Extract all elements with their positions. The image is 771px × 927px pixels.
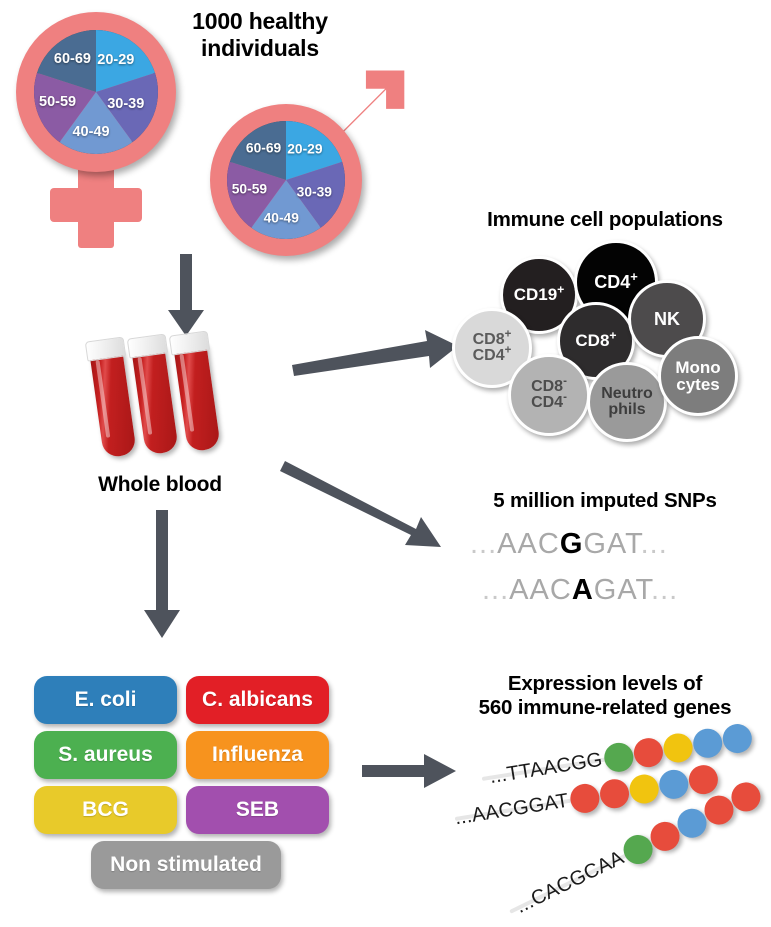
pie-label-60-69: 60-69 [246, 141, 281, 156]
stimulus-label: Non stimulated [110, 853, 262, 877]
snp-right-bases: GAT [583, 528, 640, 560]
expression-bead [568, 782, 601, 815]
cohort-title-line1: 1000 healthy [160, 8, 360, 35]
pie-label-20-29: 20-29 [97, 52, 134, 68]
pie-label-50-59: 50-59 [39, 94, 76, 110]
snp-variant-base: G [560, 528, 584, 560]
immune-cell-cd8-cd4-neg: CD8-CD4- [508, 354, 590, 436]
snp-left-bases: AAC [497, 528, 560, 560]
expression-title-line2: 560 immune-related genes [440, 696, 770, 720]
arrow-down-blood-to-stimuli [142, 510, 182, 640]
pie-label-40-49: 40-49 [264, 210, 299, 225]
expression-bead [687, 763, 720, 796]
age-pie-chart-male: 20-29 30-39 40-49 50-59 60-69 [227, 121, 345, 239]
stimulus-c-albicans[interactable]: C. albicans [186, 676, 329, 724]
snps-title: 5 million imputed SNPs [440, 489, 770, 513]
arrow-blood-to-immune-cells [290, 325, 460, 375]
stimulus-seb[interactable]: SEB [186, 786, 329, 834]
snp-suffix: ... [641, 528, 668, 560]
stimulus-s-aureus[interactable]: S. aureus [34, 731, 177, 779]
immune-cell-monocytes: Monocytes [658, 336, 738, 416]
pie-label-20-29: 20-29 [287, 142, 322, 157]
immune-cell-neutrophils: Neutrophils [587, 362, 667, 442]
stimuli-panel: E. coliC. albicansS. aureusInfluenzaBCGS… [34, 676, 334, 896]
immune-cell-label: CD8-CD4- [531, 379, 567, 412]
pie-label-30-39: 30-39 [107, 96, 144, 112]
page-title: 1000 healthy individuals [160, 8, 360, 62]
stimulus-label: S. aureus [58, 743, 153, 767]
snp-right-bases: GAT [594, 574, 651, 606]
expression-title-line1: Expression levels of [440, 672, 770, 696]
male-gender-symbol: 20-29 30-39 40-49 50-59 60-69 [198, 60, 418, 260]
strand-sequence-label: ...CACGCAA [512, 847, 628, 919]
stimulus-label: E. coli [75, 688, 137, 712]
female-symbol-cross [50, 188, 142, 222]
expression-bead [661, 731, 694, 764]
figure-canvas: 1000 healthy individuals 20-29 30-39 40-… [0, 0, 771, 922]
arrow-down-cohort-to-blood [166, 254, 206, 338]
snp-sequence-row: ...AACGGAT... [470, 528, 668, 561]
expression-bead [691, 727, 724, 760]
snp-prefix: ... [482, 574, 509, 606]
stimulus-non-stimulated[interactable]: Non stimulated [91, 841, 281, 889]
snp-sequence-row: ...AACAGAT... [482, 574, 678, 607]
female-gender-symbol: 20-29 30-39 40-49 50-59 60-69 [8, 8, 190, 253]
stimulus-label: Influenza [212, 743, 303, 767]
snp-prefix: ... [470, 528, 497, 560]
gene-expression-strands: ...TTAACGG...AACGGAT...CACGCAA [455, 740, 771, 915]
stimulus-e-coli[interactable]: E. coli [34, 676, 177, 724]
pie-label-50-59: 50-59 [232, 182, 267, 197]
arrow-stimuli-to-expression [362, 752, 458, 790]
expression-bead [632, 736, 665, 769]
immune-cell-label: CD8+ [575, 332, 616, 350]
blood-tube [172, 331, 221, 452]
expression-bead [598, 777, 631, 810]
immune-cell-populations-title: Immune cell populations [440, 208, 770, 232]
immune-cell-label: NK [654, 310, 680, 329]
expression-bead [602, 741, 635, 774]
stimulus-label: SEB [236, 798, 279, 822]
immune-cell-label: CD19+ [514, 286, 565, 304]
whole-blood-label: Whole blood [60, 473, 260, 498]
expression-bead [721, 722, 754, 755]
pie-label-40-49: 40-49 [72, 124, 109, 140]
expression-bead [628, 772, 661, 805]
immune-cell-population-cluster: CD19+CD4+CD8+CD4+CD8+NKCD8-CD4-Neutrophi… [452, 240, 752, 430]
immune-cell-label: CD4+ [594, 273, 638, 292]
pie-label-30-39: 30-39 [297, 184, 332, 199]
expression-bead [657, 768, 690, 801]
snp-variant-base: A [572, 574, 594, 606]
snp-suffix: ... [651, 574, 678, 606]
expression-levels-title: Expression levels of 560 immune-related … [440, 672, 770, 720]
snp-left-bases: AAC [509, 574, 572, 606]
arrow-blood-to-snps [283, 455, 458, 550]
snp-sequence-illustration: ...AACGGAT... ...AACAGAT... [470, 528, 760, 620]
immune-cell-label: Monocytes [675, 359, 720, 394]
whole-blood-tubes [96, 330, 256, 465]
strand-sequence-label: ...AACGGAT [453, 790, 570, 831]
pie-label-60-69: 60-69 [54, 51, 91, 67]
age-pie-chart-female: 20-29 30-39 40-49 50-59 60-69 [34, 30, 158, 154]
immune-cell-label: Neutrophils [601, 386, 653, 419]
immune-cell-label: CD8+CD4+ [473, 332, 512, 365]
stimulus-label: C. albicans [202, 688, 313, 712]
stimulus-label: BCG [82, 798, 129, 822]
stimulus-bcg[interactable]: BCG [34, 786, 177, 834]
stimulus-influenza[interactable]: Influenza [186, 731, 329, 779]
